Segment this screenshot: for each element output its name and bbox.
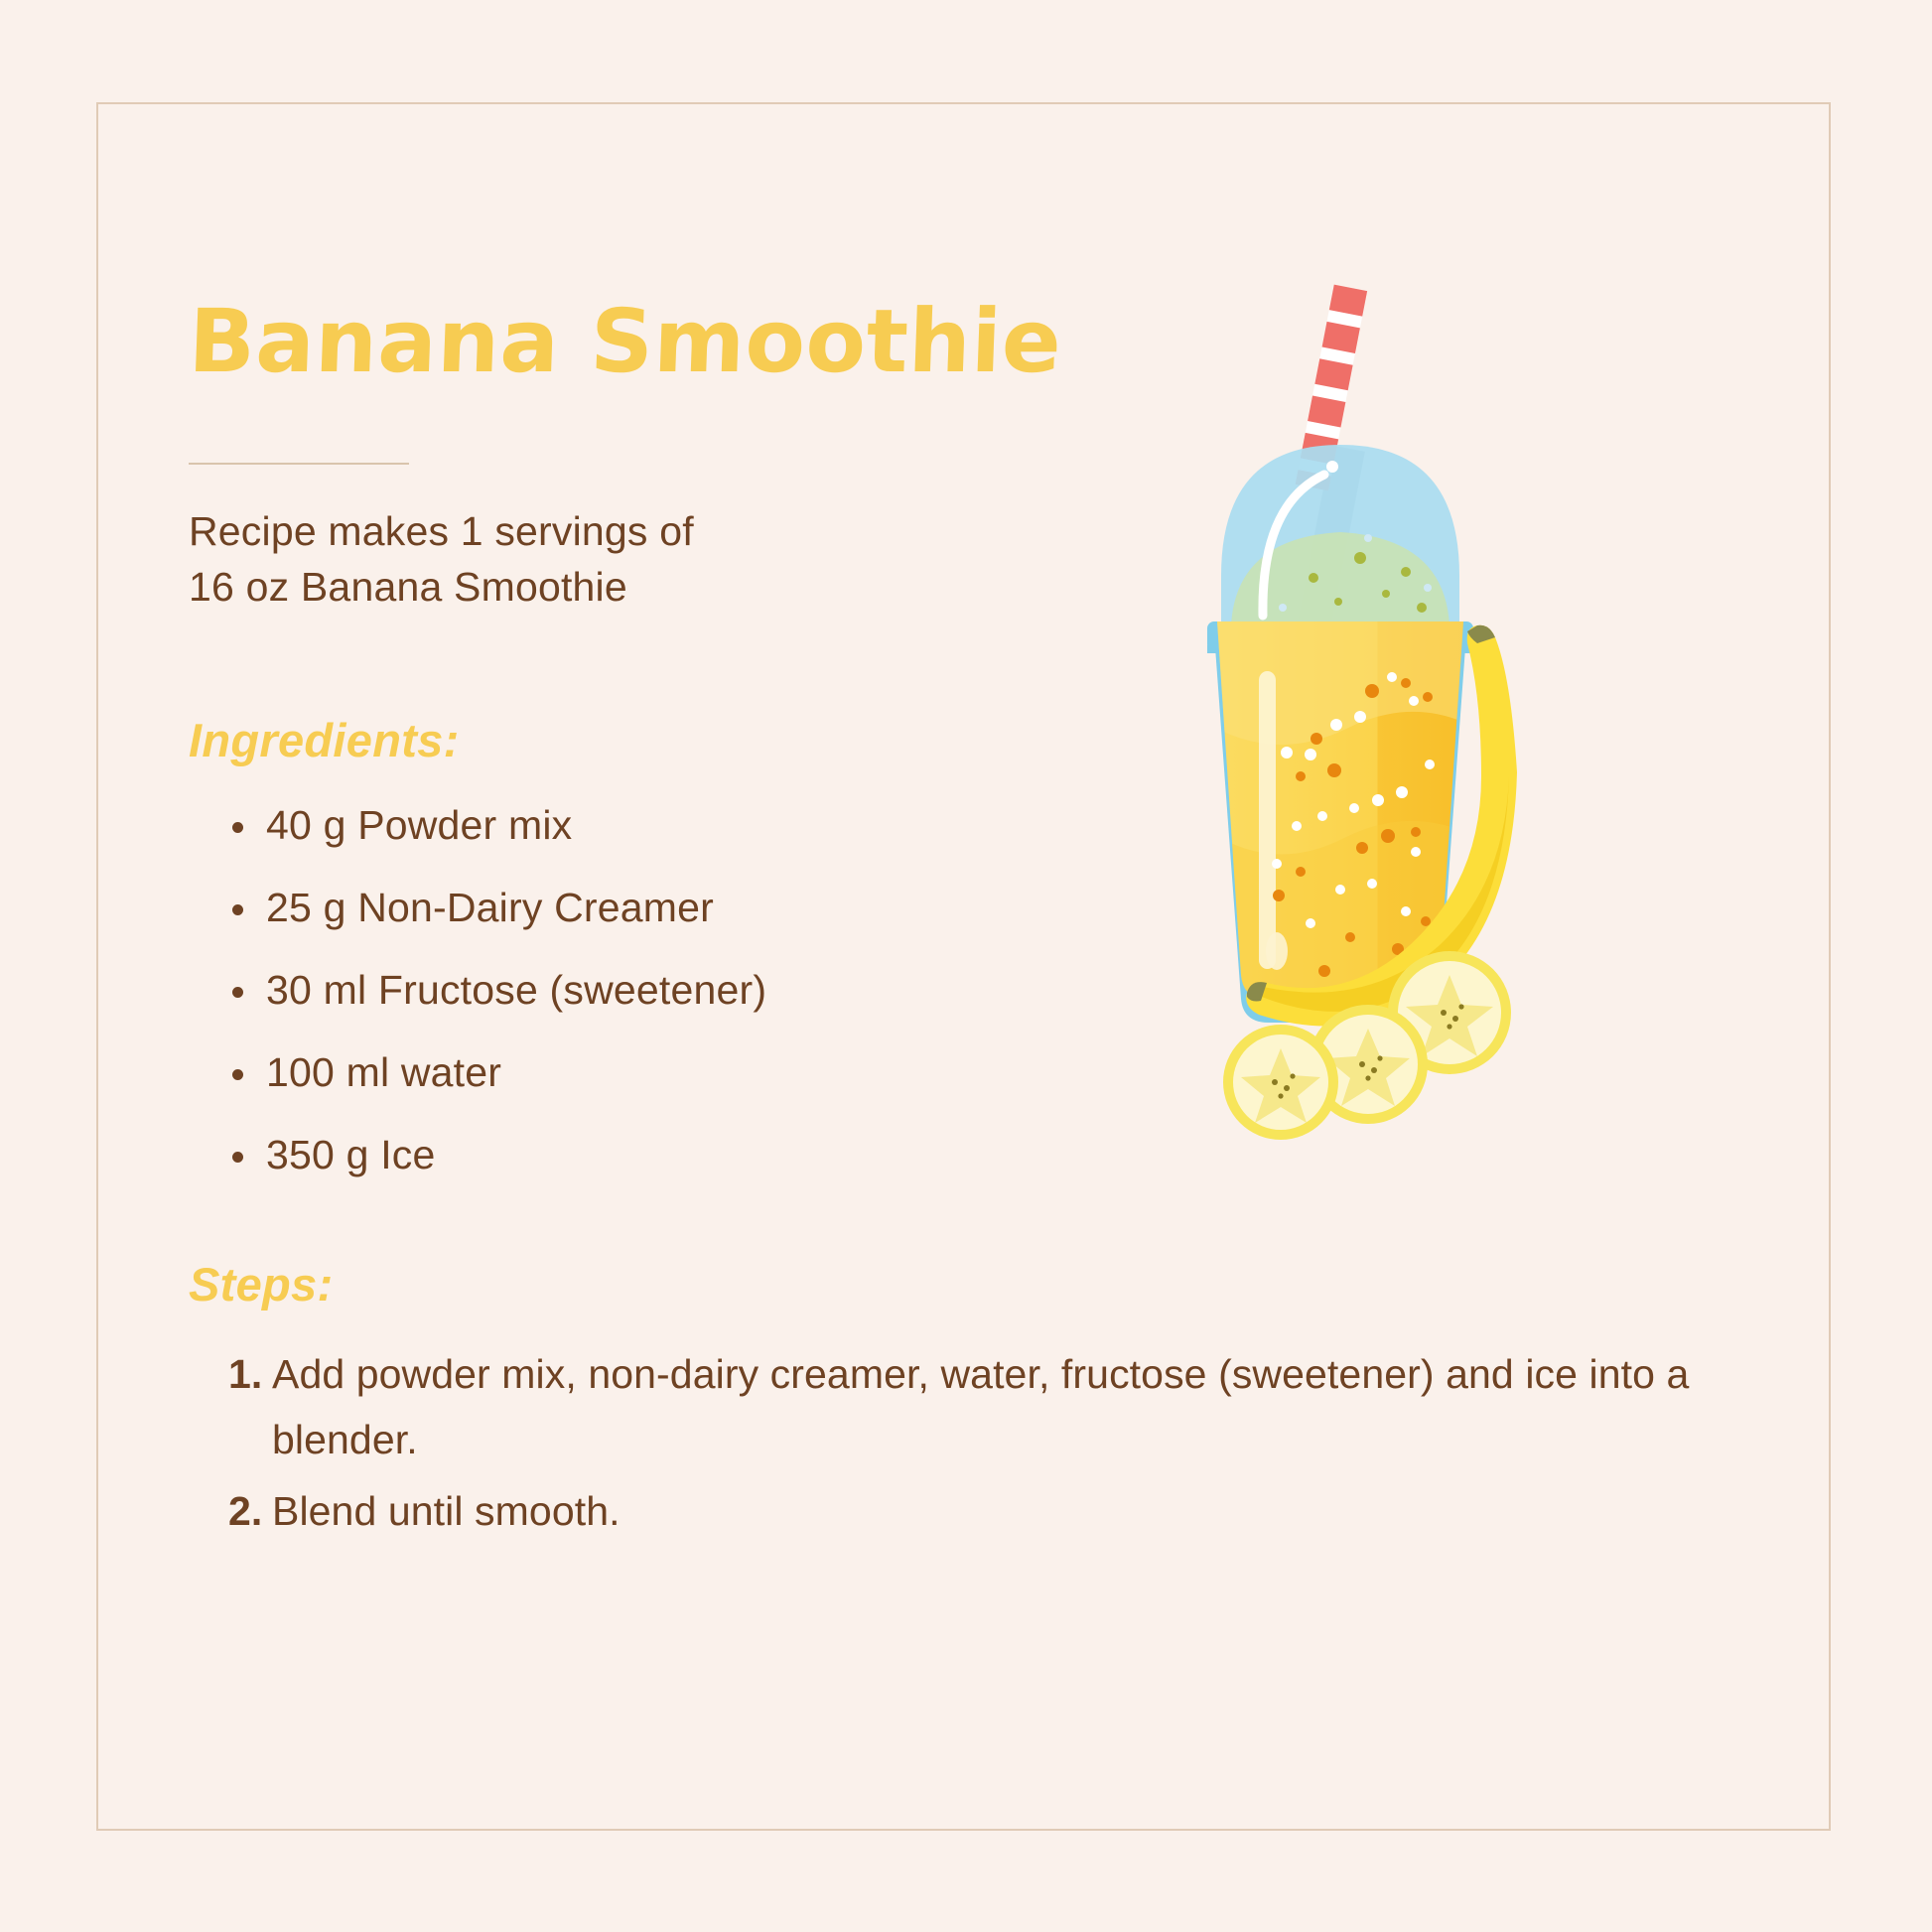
steps-heading: Steps: (189, 1257, 1737, 1311)
dome-lid-icon (1221, 445, 1459, 625)
title-divider (189, 463, 409, 465)
list-item: 2. Blend until smooth. (228, 1478, 1737, 1544)
banana-smoothie-illustration (1112, 328, 1569, 1152)
step-text: Add powder mix, non-dairy creamer, water… (272, 1351, 1689, 1462)
list-item: 1. Add powder mix, non-dairy creamer, wa… (228, 1341, 1737, 1473)
step-text: Blend until smooth. (272, 1488, 621, 1534)
recipe-card: Banana Smoothie Recipe makes 1 servings … (0, 0, 1932, 1932)
step-number: 1. (228, 1341, 262, 1407)
step-number: 2. (228, 1478, 262, 1544)
steps-list: 1. Add powder mix, non-dairy creamer, wa… (189, 1341, 1737, 1545)
